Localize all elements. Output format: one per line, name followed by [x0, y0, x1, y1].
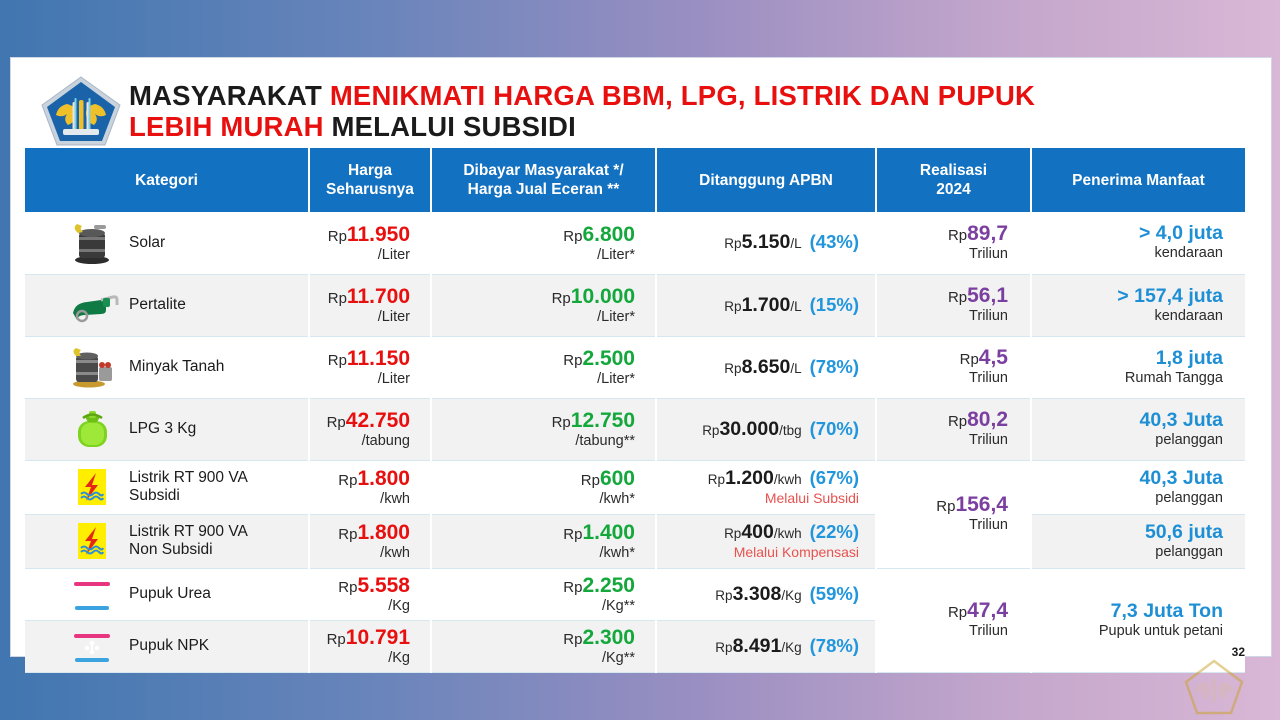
cell-penerima-manfaat: > 157,4 jutakendaraan	[1031, 274, 1245, 336]
harga-value: 42.750	[346, 409, 410, 432]
kemenkeu-logo-svg	[39, 74, 123, 148]
dibayar-value: 1.400	[582, 521, 635, 544]
realisasi-unit: Triliun	[877, 247, 1008, 262]
dibayar-rp: Rp	[563, 352, 582, 369]
penerima-sub: pelanggan	[1032, 433, 1223, 449]
table-row: LPG 3 KgRp42.750/tabungRp12.750/tabung**…	[25, 398, 1245, 460]
subsidy-table: Kategori Harga Seharusnya Dibayar Masyar…	[25, 148, 1245, 673]
apbn-amount: 1.700	[742, 294, 791, 316]
cell-realisasi: Rp89,7Triliun	[876, 212, 1031, 274]
dibayar-value: 10.000	[571, 285, 635, 308]
cell-kategori: Minyak Tanah	[25, 336, 309, 398]
pln-electricity-icon	[65, 465, 119, 509]
apbn-rp: Rp	[715, 640, 732, 655]
cell-ditanggung-apbn: Rp8.650/L(78%)	[656, 336, 876, 398]
harga-unit: /tabung	[310, 434, 410, 449]
cell-harga-seharusnya: Rp1.800/kwh	[309, 460, 431, 514]
apbn-amount: 3.308	[733, 583, 782, 605]
penerima-sub: pelanggan	[1032, 545, 1223, 561]
penerima-main: 50,6 juta	[1032, 522, 1223, 543]
table-row: Minyak TanahRp11.150/LiterRp2.500/Liter*…	[25, 336, 1245, 398]
harga-unit: /Liter	[310, 372, 410, 387]
cell-kategori: LPG 3 Kg	[25, 398, 309, 460]
dibayar-value: 2.500	[582, 347, 635, 370]
apbn-unit: /tbg	[779, 423, 802, 438]
dibayar-value: 6.800	[582, 223, 635, 246]
cell-penerima-manfaat: 40,3 Jutapelanggan	[1031, 460, 1245, 514]
realisasi-amount: 80,2	[967, 408, 1008, 431]
realisasi-rp: Rp	[948, 227, 967, 244]
realisasi-unit: Triliun	[877, 624, 1008, 639]
apbn-unit: /L	[790, 236, 801, 251]
penerima-sub: Pupuk untuk petani	[1032, 624, 1223, 640]
penerima-sub: kendaraan	[1032, 309, 1223, 325]
title-line2-part1: LEBIH MURAH	[129, 111, 332, 142]
harga-unit: /Liter	[310, 310, 410, 325]
realisasi-rp: Rp	[948, 604, 967, 621]
penerima-main: > 4,0 juta	[1032, 223, 1223, 244]
cell-ditanggung-apbn: Rp1.200/kwh(67%)Melalui Subsidi	[656, 460, 876, 514]
harga-rp: Rp	[328, 228, 347, 245]
cell-penerima-manfaat: > 4,0 jutakendaraan	[1031, 212, 1245, 274]
apbn-percent: (78%)	[810, 635, 859, 656]
dibayar-rp: Rp	[552, 414, 571, 431]
cell-dibayar-masyarakat: Rp10.000/Liter*	[431, 274, 656, 336]
category-label: Solar	[129, 234, 165, 252]
cell-ditanggung-apbn: Rp8.491/Kg(78%)	[656, 620, 876, 672]
slide-canvas: MASYARAKAT MENIKMATI HARGA BBM, LPG, LIS…	[0, 0, 1280, 720]
cell-kategori: Pupuk NPK	[25, 620, 309, 672]
realisasi-amount: 89,7	[967, 222, 1008, 245]
page-number: 32	[1232, 645, 1245, 659]
category-label: Pupuk Urea	[129, 585, 211, 603]
harga-rp: Rp	[328, 290, 347, 307]
harga-value: 11.950	[347, 223, 410, 246]
dibayar-rp: Rp	[563, 579, 582, 596]
fuel-nozzle-icon	[65, 283, 119, 327]
apbn-amount: 5.150	[742, 231, 791, 253]
harga-rp: Rp	[338, 579, 357, 596]
column-header-realisasi: Realisasi 2024	[876, 148, 1031, 212]
cell-penerima-manfaat: 40,3 Jutapelanggan	[1031, 398, 1245, 460]
realisasi-rp: Rp	[936, 498, 955, 515]
cell-kategori: Listrik RT 900 VASubsidi	[25, 460, 309, 514]
realisasi-rp: Rp	[960, 351, 979, 368]
column-header-harga-seharusnya: Harga Seharusnya	[309, 148, 431, 212]
dibayar-rp: Rp	[581, 472, 600, 489]
apbn-note: Melalui Kompensasi	[657, 545, 859, 560]
apbn-unit: /Kg	[781, 588, 801, 603]
apbn-percent: (22%)	[810, 521, 859, 542]
penerima-sub: kendaraan	[1032, 246, 1223, 262]
harga-rp: Rp	[327, 414, 346, 431]
cell-realisasi: Rp80,2Triliun	[876, 398, 1031, 460]
harga-unit: /Liter	[310, 248, 410, 263]
table-row: Pupuk UreaRp5.558/KgRp2.250/Kg**Rp3.308/…	[25, 568, 1245, 620]
penerima-sub: Rumah Tangga	[1032, 371, 1223, 387]
cell-harga-seharusnya: Rp10.791/Kg	[309, 620, 431, 672]
apbn-rp: Rp	[724, 299, 741, 314]
column-header-penerima-manfaat: Penerima Manfaat	[1031, 148, 1245, 212]
content-card: MASYARAKAT MENIKMATI HARGA BBM, LPG, LIS…	[10, 57, 1272, 657]
cell-dibayar-masyarakat: Rp12.750/tabung**	[431, 398, 656, 460]
apbn-unit: /L	[790, 299, 801, 314]
kemenkeu-logo	[39, 74, 123, 148]
realisasi-amount: 156,4	[955, 493, 1008, 516]
cell-dibayar-masyarakat: Rp6.800/Liter*	[431, 212, 656, 274]
apbn-rp: Rp	[715, 588, 732, 603]
realisasi-amount: 4,5	[979, 346, 1008, 369]
dibayar-rp: Rp	[552, 290, 571, 307]
cell-realisasi: Rp56,1Triliun	[876, 274, 1031, 336]
category-label-line2: Subsidi	[129, 487, 248, 505]
harga-unit: /kwh	[310, 546, 410, 561]
apbn-percent: (43%)	[810, 231, 859, 252]
harga-value: 1.800	[357, 521, 410, 544]
cell-ditanggung-apbn: Rp3.308/Kg(59%)	[656, 568, 876, 620]
dibayar-unit: /Liter*	[432, 310, 635, 325]
cell-harga-seharusnya: Rp42.750/tabung	[309, 398, 431, 460]
cell-penerima-manfaat: 7,3 Juta TonPupuk untuk petani	[1031, 568, 1245, 672]
dibayar-unit: /Liter*	[432, 248, 635, 263]
apbn-percent: (70%)	[810, 418, 859, 439]
kerosene-can-icon	[65, 345, 119, 389]
apbn-rp: Rp	[724, 236, 741, 251]
apbn-unit: /kwh	[774, 472, 802, 487]
column-header-kategori: Kategori	[25, 148, 309, 212]
apbn-amount: 30.000	[719, 418, 779, 440]
solar-drum-icon	[65, 221, 119, 265]
harga-unit: /Kg	[310, 599, 410, 614]
column-header-ditanggung-apbn: Ditanggung APBN	[656, 148, 876, 212]
apbn-amount: 1.200	[725, 467, 774, 489]
dibayar-value: 2.300	[582, 626, 635, 649]
cell-kategori: Pupuk Urea	[25, 568, 309, 620]
table-row: PertaliteRp11.700/LiterRp10.000/Liter*Rp…	[25, 274, 1245, 336]
table-row: Listrik RT 900 VANon SubsidiRp1.800/kwhR…	[25, 514, 1245, 568]
harga-value: 11.700	[347, 285, 410, 308]
dibayar-rp: Rp	[563, 228, 582, 245]
apbn-unit: /L	[790, 361, 801, 376]
apbn-rp: Rp	[724, 526, 741, 541]
kemenkeu-watermark-svg	[1183, 658, 1245, 716]
category-label: Minyak Tanah	[129, 358, 224, 376]
apbn-amount: 400	[741, 521, 774, 543]
cell-harga-seharusnya: Rp11.700/Liter	[309, 274, 431, 336]
harga-unit: /Kg	[310, 651, 410, 666]
column-header-dibayar-masyarakat: Dibayar Masyarakat */ Harga Jual Eceran …	[431, 148, 656, 212]
table-row: Listrik RT 900 VASubsidiRp1.800/kwhRp600…	[25, 460, 1245, 514]
harga-value: 5.558	[357, 574, 410, 597]
penerima-main: 7,3 Juta Ton	[1032, 601, 1223, 622]
cell-dibayar-masyarakat: Rp600/kwh*	[431, 460, 656, 514]
cell-dibayar-masyarakat: Rp2.300/Kg**	[431, 620, 656, 672]
realisasi-unit: Triliun	[877, 309, 1008, 324]
apbn-percent: (67%)	[810, 467, 859, 488]
realisasi-rp: Rp	[948, 289, 967, 306]
apbn-amount: 8.650	[742, 356, 791, 378]
cell-dibayar-masyarakat: Rp2.500/Liter*	[431, 336, 656, 398]
cell-dibayar-masyarakat: Rp2.250/Kg**	[431, 568, 656, 620]
table-row: SolarRp11.950/LiterRp6.800/Liter*Rp5.150…	[25, 212, 1245, 274]
title-line1-part2: MENIKMATI HARGA BBM, LPG, LISTRIK DAN PU…	[330, 80, 1035, 111]
apbn-unit: /kwh	[774, 526, 802, 541]
dibayar-value: 12.750	[571, 409, 635, 432]
dibayar-value: 600	[600, 467, 635, 490]
apbn-unit: /Kg	[781, 640, 801, 655]
harga-value: 10.791	[346, 626, 410, 649]
realisasi-unit: Triliun	[877, 518, 1008, 533]
penerima-main: 1,8 juta	[1032, 348, 1223, 369]
cell-realisasi: Rp4,5Triliun	[876, 336, 1031, 398]
realisasi-unit: Triliun	[877, 371, 1008, 386]
slide-header: MASYARAKAT MENIKMATI HARGA BBM, LPG, LIS…	[39, 72, 1239, 150]
dibayar-unit: /Kg**	[432, 599, 635, 614]
harga-rp: Rp	[338, 526, 357, 543]
harga-rp: Rp	[327, 631, 346, 648]
table-header: Kategori Harga Seharusnya Dibayar Masyar…	[25, 148, 1245, 212]
apbn-percent: (15%)	[810, 294, 859, 315]
harga-rp: Rp	[338, 472, 357, 489]
title-line1-part1: MASYARAKAT	[129, 80, 330, 111]
realisasi-amount: 47,4	[967, 599, 1008, 622]
apbn-rp: Rp	[708, 472, 725, 487]
table-body: SolarRp11.950/LiterRp6.800/Liter*Rp5.150…	[25, 212, 1245, 672]
realisasi-amount: 56,1	[967, 284, 1008, 307]
title-line2-part2: MELALUI SUBSIDI	[332, 111, 576, 142]
page-title: MASYARAKAT MENIKMATI HARGA BBM, LPG, LIS…	[129, 80, 1035, 142]
table-header-row: Kategori Harga Seharusnya Dibayar Masyar…	[25, 148, 1245, 212]
pln-electricity-icon	[65, 519, 119, 563]
dibayar-value: 2.250	[582, 574, 635, 597]
cell-harga-seharusnya: Rp11.150/Liter	[309, 336, 431, 398]
harga-rp: Rp	[328, 352, 347, 369]
penerima-main: 40,3 Juta	[1032, 468, 1223, 489]
cell-kategori: Listrik RT 900 VANon Subsidi	[25, 514, 309, 568]
subsidy-table-wrapper: Kategori Harga Seharusnya Dibayar Masyar…	[25, 148, 1245, 673]
category-label-line2: Non Subsidi	[129, 541, 248, 559]
dibayar-rp: Rp	[563, 526, 582, 543]
cell-penerima-manfaat: 50,6 jutapelanggan	[1031, 514, 1245, 568]
realisasi-unit: Triliun	[877, 433, 1008, 448]
cell-kategori: Pertalite	[25, 274, 309, 336]
harga-unit: /kwh	[310, 492, 410, 507]
category-label-line1: Listrik RT 900 VA	[129, 523, 248, 541]
category-label: LPG 3 Kg	[129, 420, 196, 438]
category-label-line1: Listrik RT 900 VA	[129, 469, 248, 487]
cell-penerima-manfaat: 1,8 jutaRumah Tangga	[1031, 336, 1245, 398]
pupuk-indonesia-icon	[65, 572, 119, 616]
realisasi-rp: Rp	[948, 413, 967, 430]
cell-ditanggung-apbn: Rp5.150/L(43%)	[656, 212, 876, 274]
apbn-amount: 8.491	[733, 635, 782, 657]
apbn-percent: (59%)	[810, 583, 859, 604]
penerima-main: > 157,4 juta	[1032, 286, 1223, 307]
category-label: Pertalite	[129, 296, 186, 314]
dibayar-unit: /kwh*	[432, 492, 635, 507]
cell-ditanggung-apbn: Rp1.700/L(15%)	[656, 274, 876, 336]
lpg-cylinder-icon	[65, 407, 119, 451]
cell-dibayar-masyarakat: Rp1.400/kwh*	[431, 514, 656, 568]
cell-realisasi: Rp47,4Triliun	[876, 568, 1031, 672]
pupuk-indonesia-icon	[65, 624, 119, 668]
penerima-sub: pelanggan	[1032, 491, 1223, 507]
harga-value: 11.150	[347, 347, 410, 370]
cell-realisasi: Rp156,4Triliun	[876, 460, 1031, 568]
cell-harga-seharusnya: Rp1.800/kwh	[309, 514, 431, 568]
cell-ditanggung-apbn: Rp30.000/tbg(70%)	[656, 398, 876, 460]
dibayar-unit: /kwh*	[432, 546, 635, 561]
apbn-percent: (78%)	[810, 356, 859, 377]
cell-ditanggung-apbn: Rp400/kwh(22%)Melalui Kompensasi	[656, 514, 876, 568]
apbn-rp: Rp	[702, 423, 719, 438]
apbn-note: Melalui Subsidi	[657, 491, 859, 506]
cell-harga-seharusnya: Rp5.558/Kg	[309, 568, 431, 620]
dibayar-unit: /Kg**	[432, 651, 635, 666]
penerima-main: 40,3 Juta	[1032, 410, 1223, 431]
kemenkeu-watermark	[1183, 658, 1245, 716]
cell-kategori: Solar	[25, 212, 309, 274]
dibayar-unit: /tabung**	[432, 434, 635, 449]
cell-harga-seharusnya: Rp11.950/Liter	[309, 212, 431, 274]
harga-value: 1.800	[357, 467, 410, 490]
apbn-rp: Rp	[724, 361, 741, 376]
dibayar-rp: Rp	[563, 631, 582, 648]
dibayar-unit: /Liter*	[432, 372, 635, 387]
category-label: Pupuk NPK	[129, 637, 209, 655]
